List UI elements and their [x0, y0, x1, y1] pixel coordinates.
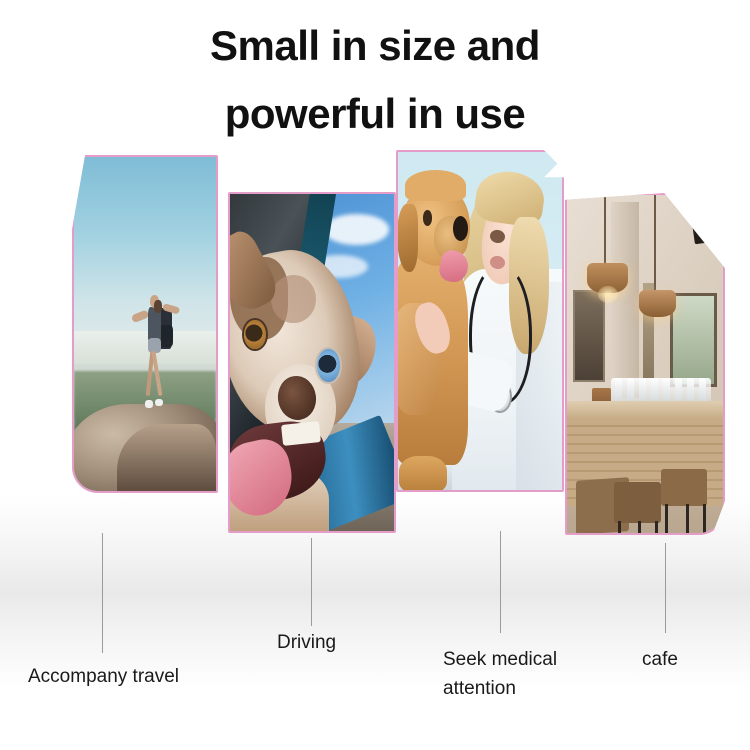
photo-panel-driving[interactable] [228, 192, 396, 533]
stool-leg [655, 521, 658, 533]
bar-stool [661, 469, 708, 506]
stool-leg [703, 504, 706, 533]
leader-line-accompany-travel [102, 533, 103, 653]
leader-line-seek-medical [500, 531, 501, 633]
caption-cafe: cafe [642, 645, 678, 674]
headline-line-1: Small in size and [0, 12, 750, 80]
stool-leg [638, 521, 641, 533]
dog-in-car-photo [230, 194, 394, 531]
cafe-window-right [670, 293, 717, 387]
photo-panel-seek-medical-attention[interactable] [396, 150, 564, 492]
photo-panel-cafe[interactable] [565, 193, 725, 535]
hiker-figure [132, 291, 180, 405]
dog-eye-blue [317, 349, 339, 382]
dog-head-tuft [405, 170, 466, 201]
caption-driving: Driving [277, 628, 336, 657]
dog-teeth [281, 422, 320, 447]
dog-fur-highlight [398, 303, 442, 415]
caption-seek-medical-attention: Seek medical attention [443, 645, 557, 703]
stool-leg [618, 521, 621, 533]
caption-accompany-travel: Accompany travel [28, 662, 179, 691]
leader-line-cafe [665, 543, 666, 633]
stool-leg [686, 504, 689, 533]
pendant-lamp-cord [654, 195, 656, 296]
photo-panel-accompany-travel[interactable] [72, 155, 218, 493]
pendant-lamp-cord [604, 195, 606, 269]
dog-paw [399, 456, 447, 490]
headline-line-2: powerful in use [0, 80, 750, 148]
stool-leg [665, 504, 668, 533]
bar-stool [614, 482, 661, 523]
backpack-lower [160, 325, 173, 348]
hiker-shoe-right [155, 399, 163, 407]
veterinarian-photo [398, 152, 562, 490]
page-title: Small in size and powerful in use [0, 12, 750, 148]
ceiling-speaker [689, 200, 716, 243]
dog-ear [398, 204, 418, 272]
dog-fur-patch [271, 275, 315, 322]
chihuahua-figure [230, 228, 391, 525]
hiker-photo [74, 157, 216, 491]
dog-eye [423, 210, 433, 226]
leader-line-driving [311, 538, 312, 626]
hiker-shoe-left [145, 400, 153, 408]
hiker-hair [154, 300, 162, 314]
cafe-interior-photo [567, 195, 723, 533]
promo-banner: Small in size and powerful in use [0, 0, 750, 750]
golden-dog-figure [398, 179, 490, 490]
hiker-leg-right [152, 351, 163, 397]
pendant-lamp-right [639, 290, 676, 317]
cafe-window-left [573, 290, 605, 382]
